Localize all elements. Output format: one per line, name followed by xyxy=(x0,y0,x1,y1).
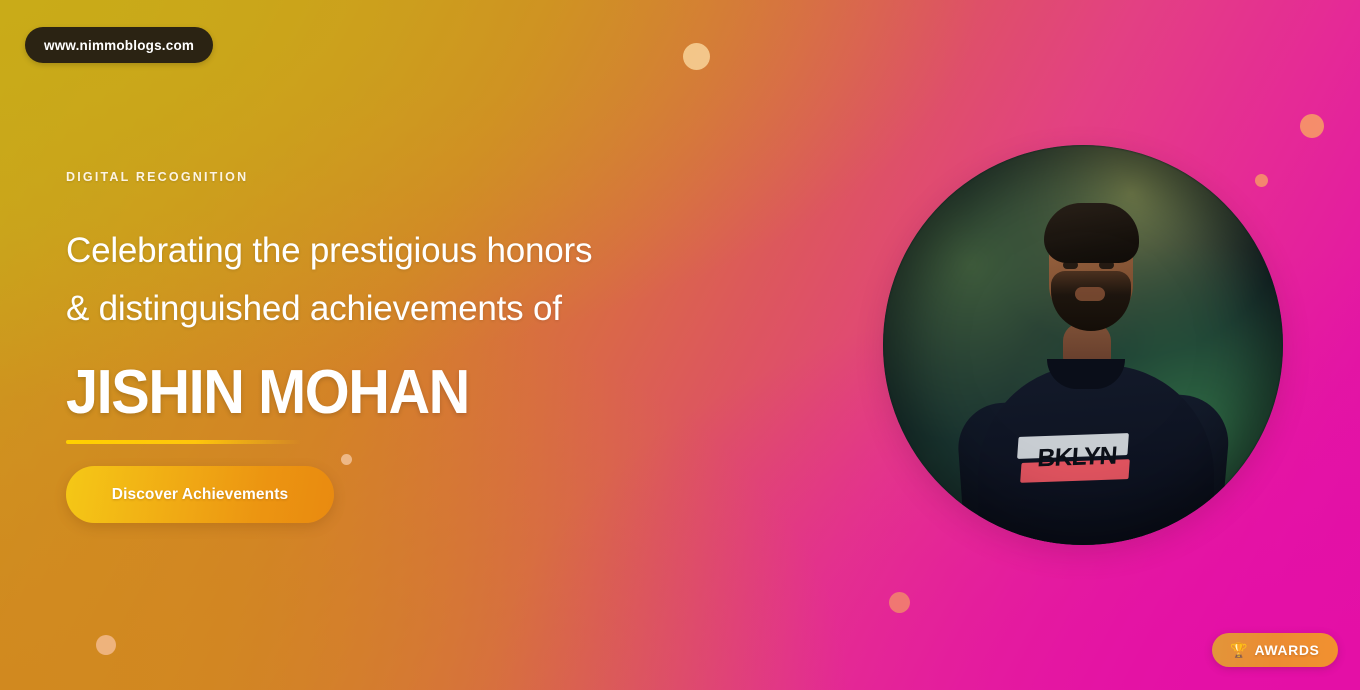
deco-dot-bottom-left xyxy=(96,635,116,655)
hero-eyebrow-label: DIGITAL RECOGNITION xyxy=(66,170,706,184)
hero-person-name: JISHIN MOHAN xyxy=(66,362,661,424)
awards-badge[interactable]: 🏆 AWARDS xyxy=(1212,633,1338,667)
deco-dot-top-right-large xyxy=(1300,114,1324,138)
hero-banner: www.nimmoblogs.com DIGITAL RECOGNITION C… xyxy=(0,0,1360,690)
deco-dot-mid-left-small xyxy=(341,454,352,465)
cta-button-label: Discover Achievements xyxy=(112,486,288,504)
trophy-icon: 🏆 xyxy=(1230,643,1247,657)
hero-content-column: DIGITAL RECOGNITION Celebrating the pres… xyxy=(66,170,706,444)
discover-achievements-button[interactable]: Discover Achievements xyxy=(66,466,334,523)
deco-dot-bottom-center xyxy=(889,592,910,613)
deco-dot-top-center xyxy=(683,43,710,70)
portrait-avatar: BKLYN xyxy=(883,145,1283,545)
portrait-vignette xyxy=(883,145,1283,545)
name-underline-accent xyxy=(66,440,301,444)
site-url-text: www.nimmoblogs.com xyxy=(44,38,194,53)
hero-headline: Celebrating the prestigious honors & dis… xyxy=(66,222,706,338)
deco-dot-top-right-small xyxy=(1255,174,1268,187)
site-url-badge[interactable]: www.nimmoblogs.com xyxy=(25,27,213,63)
awards-badge-label: AWARDS xyxy=(1254,642,1319,658)
